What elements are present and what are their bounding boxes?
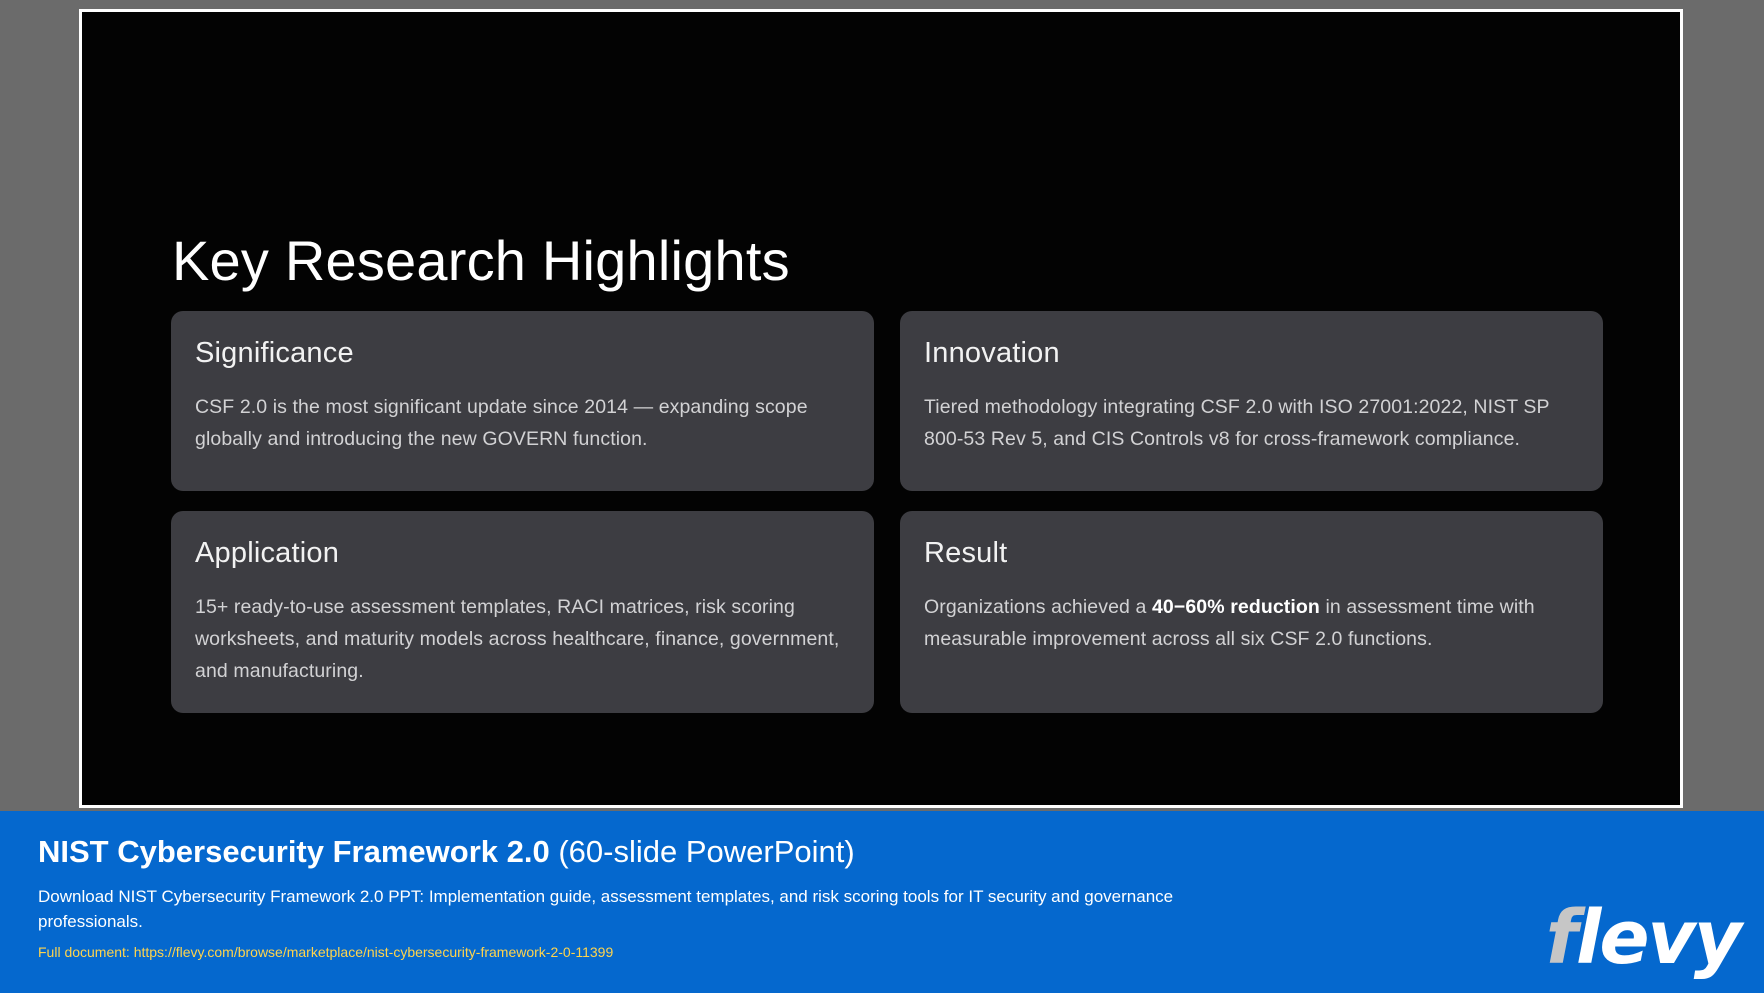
card-title: Application bbox=[195, 537, 848, 570]
banner-title-strong: NIST Cybersecurity Framework 2.0 bbox=[38, 834, 550, 869]
card-body: 15+ ready-to-use assessment templates, R… bbox=[195, 592, 848, 687]
card-body-text-lead: Organizations achieved a bbox=[924, 596, 1152, 618]
highlight-card-innovation: Innovation Tiered methodology integratin… bbox=[900, 311, 1603, 491]
flevy-logo-f: f bbox=[1546, 895, 1576, 981]
highlight-card-grid: Significance CSF 2.0 is the most signifi… bbox=[171, 311, 1603, 713]
card-body: Tiered methodology integrating CSF 2.0 w… bbox=[924, 392, 1577, 455]
card-body: CSF 2.0 is the most significant update s… bbox=[195, 392, 848, 455]
card-title: Significance bbox=[195, 337, 848, 370]
page-root: Key Research Highlights Significance CSF… bbox=[0, 0, 1764, 993]
card-body-emphasis: 40−60% reduction bbox=[1152, 596, 1320, 618]
flevy-logo-levy: levy bbox=[1576, 895, 1740, 981]
slide-title: Key Research Highlights bbox=[172, 230, 790, 292]
slide-frame: Key Research Highlights Significance CSF… bbox=[79, 9, 1683, 808]
flevy-logo[interactable]: flevy bbox=[1546, 901, 1740, 975]
highlight-card-application: Application 15+ ready-to-use assessment … bbox=[171, 511, 874, 713]
card-body-text: CSF 2.0 is the most significant update s… bbox=[195, 396, 808, 450]
banner-description: Download NIST Cybersecurity Framework 2.… bbox=[38, 884, 1258, 934]
slide-canvas: Key Research Highlights Significance CSF… bbox=[82, 12, 1680, 805]
card-body-text: Tiered methodology integrating CSF 2.0 w… bbox=[924, 396, 1549, 450]
banner-title-light: (60-slide PowerPoint) bbox=[558, 834, 854, 869]
highlight-card-result: Result Organizations achieved a 40−60% r… bbox=[900, 511, 1603, 713]
banner-text-block: NIST Cybersecurity Framework 2.0 (60-sli… bbox=[38, 833, 1458, 961]
card-title: Result bbox=[924, 537, 1577, 570]
card-body-text: 15+ ready-to-use assessment templates, R… bbox=[195, 596, 839, 681]
banner-title: NIST Cybersecurity Framework 2.0 (60-sli… bbox=[38, 833, 1458, 870]
banner-document-link[interactable]: Full document: https://flevy.com/browse/… bbox=[38, 943, 1458, 961]
flevy-promo-banner: NIST Cybersecurity Framework 2.0 (60-sli… bbox=[0, 811, 1764, 993]
card-title: Innovation bbox=[924, 337, 1577, 370]
highlight-card-significance: Significance CSF 2.0 is the most signifi… bbox=[171, 311, 874, 491]
card-body: Organizations achieved a 40−60% reductio… bbox=[924, 592, 1577, 655]
